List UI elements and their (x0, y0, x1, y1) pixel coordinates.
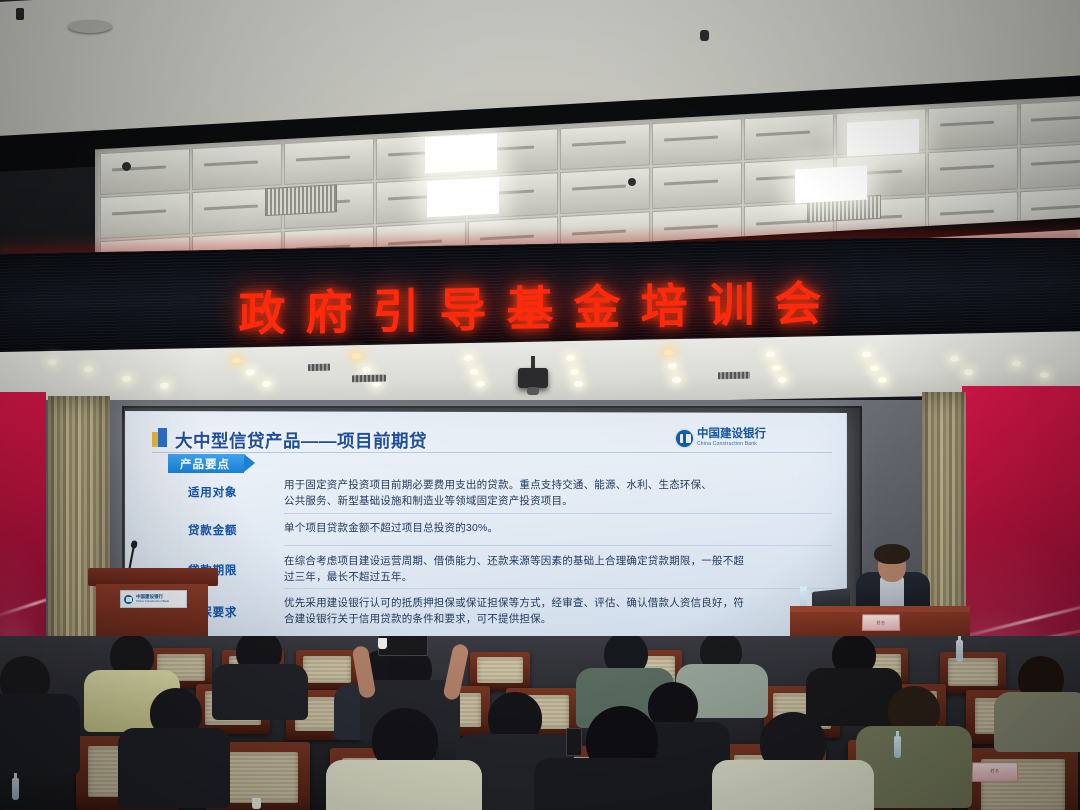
smartphone (566, 728, 582, 756)
conference-photo: 政府引导基金培训会 (0, 0, 1080, 810)
water-bottle (12, 778, 19, 800)
water-bottle (894, 736, 901, 758)
paper-cup (378, 638, 387, 649)
chair (470, 652, 530, 690)
slide-row-label: 适用对象 (188, 484, 237, 500)
ceiling-light-panel (795, 166, 867, 204)
paper-cup (252, 798, 261, 809)
slide-row-divider (284, 588, 832, 589)
desk-name-card: 姓名 (972, 762, 1018, 782)
ceiling-projector (518, 368, 548, 388)
ceiling-grille-icon (718, 372, 750, 380)
name-card: 姓名 (862, 614, 900, 631)
slide-row-text: 用于固定资产投资项目前期必要费用支出的贷款。重点支持交通、能源、水利、生态环保、… (284, 478, 722, 510)
ccb-name-cn: 中国建设银行 (697, 429, 766, 441)
ceiling-grille-icon (352, 375, 386, 383)
ceiling-light-panel (425, 134, 497, 174)
water-bottle (956, 640, 963, 662)
ceiling-grille-icon (308, 364, 330, 371)
water-bottle (800, 586, 807, 608)
smoke-detector-icon (68, 20, 112, 33)
ceiling-speaker-icon (628, 178, 636, 186)
podium-logo-plate: 中国建设银行 China Construction Bank (120, 590, 187, 608)
slide-title-rule (152, 452, 832, 453)
slide-row-text: 优先采用建设银行认可的抵质押担保或保证担保等方式，经审查、评估、确认借款人资信良… (284, 596, 754, 628)
ccb-logo: 中国建设银行 China Construction Bank (676, 429, 766, 448)
slide-row-label: 贷款金额 (188, 522, 237, 538)
ceiling-speaker-icon (700, 30, 709, 41)
slide-row-text: 单个项目贷款金额不超过项目总投资的30%。 (284, 521, 734, 537)
speaker-hair (874, 544, 910, 564)
slide-row-divider (284, 513, 832, 514)
ceiling-light-panel (847, 119, 919, 157)
podium-plate-en: China Construction Bank (136, 600, 169, 604)
slide-title-marker-icon (152, 428, 167, 447)
ccb-mark-icon (124, 595, 133, 604)
ccb-mark-icon (676, 430, 693, 447)
audience-area: 姓名 (0, 636, 1080, 810)
name-card-text: 姓名 (863, 615, 899, 630)
ceiling-sensor-icon (16, 8, 24, 20)
ceiling-light-panel (427, 177, 499, 217)
slide-section-tab: 产品要点 (168, 454, 244, 473)
slide-title: 大中型信贷产品——项目前期贷 (175, 428, 427, 453)
ac-vent-icon (265, 184, 337, 216)
slide-row-text: 在综合考虑项目建设运营周期、借债能力、还款来源等因素的基础上合理确定贷款期限，一… (284, 554, 754, 586)
desk-name-card-text: 姓名 (973, 763, 1017, 778)
projector-lens-icon (527, 387, 539, 395)
ccb-name-en: China Construction Bank (697, 441, 766, 448)
chair (940, 652, 1006, 694)
ceiling-speaker-icon (122, 162, 131, 171)
slide-row-divider (284, 545, 832, 546)
